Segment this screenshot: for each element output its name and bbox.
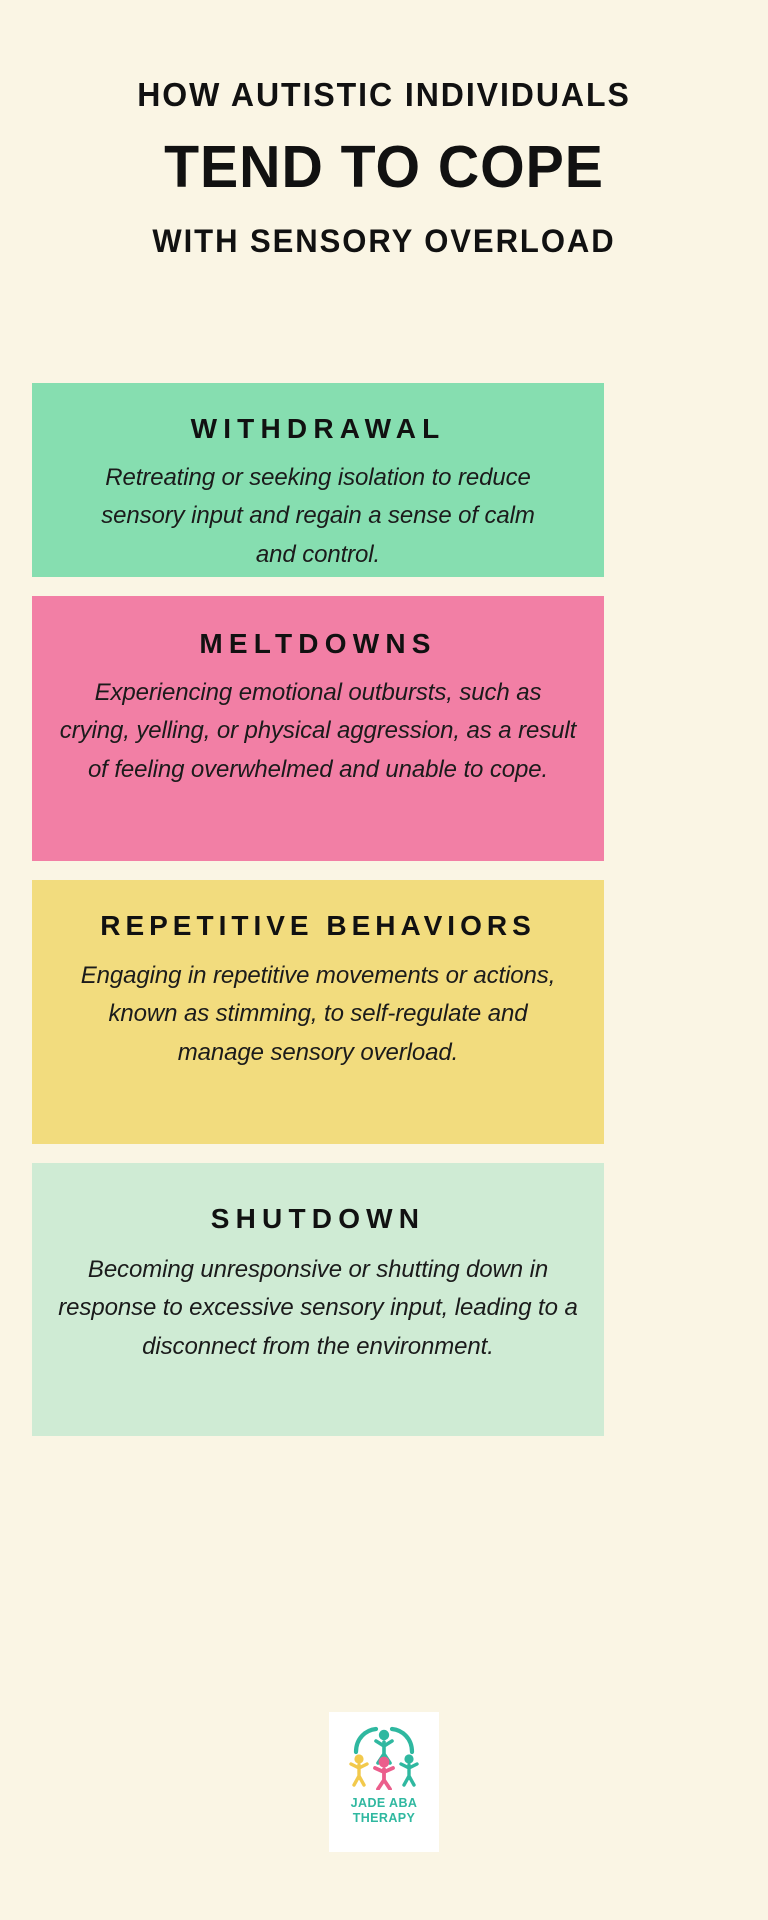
infographic-page: HOW AUTISTIC INDIVIDUALS TEND TO COPE WI…: [0, 0, 768, 1920]
logo-name-line-2: THERAPY: [351, 1811, 418, 1826]
card-heading-withdrawal: WITHDRAWAL: [191, 415, 446, 443]
card-heading-repetitive-behaviors: REPETITIVE BEHAVIORS: [100, 912, 536, 940]
card-withdrawal: WITHDRAWAL Retreating or seeking isolati…: [32, 383, 604, 577]
title-line-2: TEND TO COPE: [12, 138, 757, 197]
card-shutdown: SHUTDOWN Becoming unresponsive or shutti…: [32, 1163, 604, 1436]
title-line-3: WITH SENSORY OVERLOAD: [12, 225, 757, 257]
title-line-1: HOW AUTISTIC INDIVIDUALS: [12, 78, 757, 111]
card-body-shutdown: Becoming unresponsive or shutting down i…: [58, 1251, 578, 1366]
card-heading-shutdown: SHUTDOWN: [211, 1205, 425, 1233]
card-heading-meltdowns: MELTDOWNS: [199, 630, 436, 658]
page-title: HOW AUTISTIC INDIVIDUALS TEND TO COPE WI…: [0, 0, 768, 257]
card-body-withdrawal: Retreating or seeking isolation to reduc…: [83, 459, 553, 574]
card-meltdowns: MELTDOWNS Experiencing emotional outburs…: [32, 596, 604, 861]
people-figures-icon: [342, 1724, 426, 1790]
logo-name-line-1: JADE ABA: [351, 1796, 418, 1811]
brand-logo: JADE ABA THERAPY: [329, 1712, 439, 1852]
cards-list: WITHDRAWAL Retreating or seeking isolati…: [32, 383, 604, 1436]
logo-container: JADE ABA THERAPY: [0, 1712, 768, 1852]
card-body-meltdowns: Experiencing emotional outbursts, such a…: [58, 674, 578, 789]
logo-text: JADE ABA THERAPY: [351, 1796, 418, 1827]
card-body-repetitive-behaviors: Engaging in repetitive movements or acti…: [68, 957, 568, 1072]
card-repetitive-behaviors: REPETITIVE BEHAVIORS Engaging in repetit…: [32, 880, 604, 1144]
